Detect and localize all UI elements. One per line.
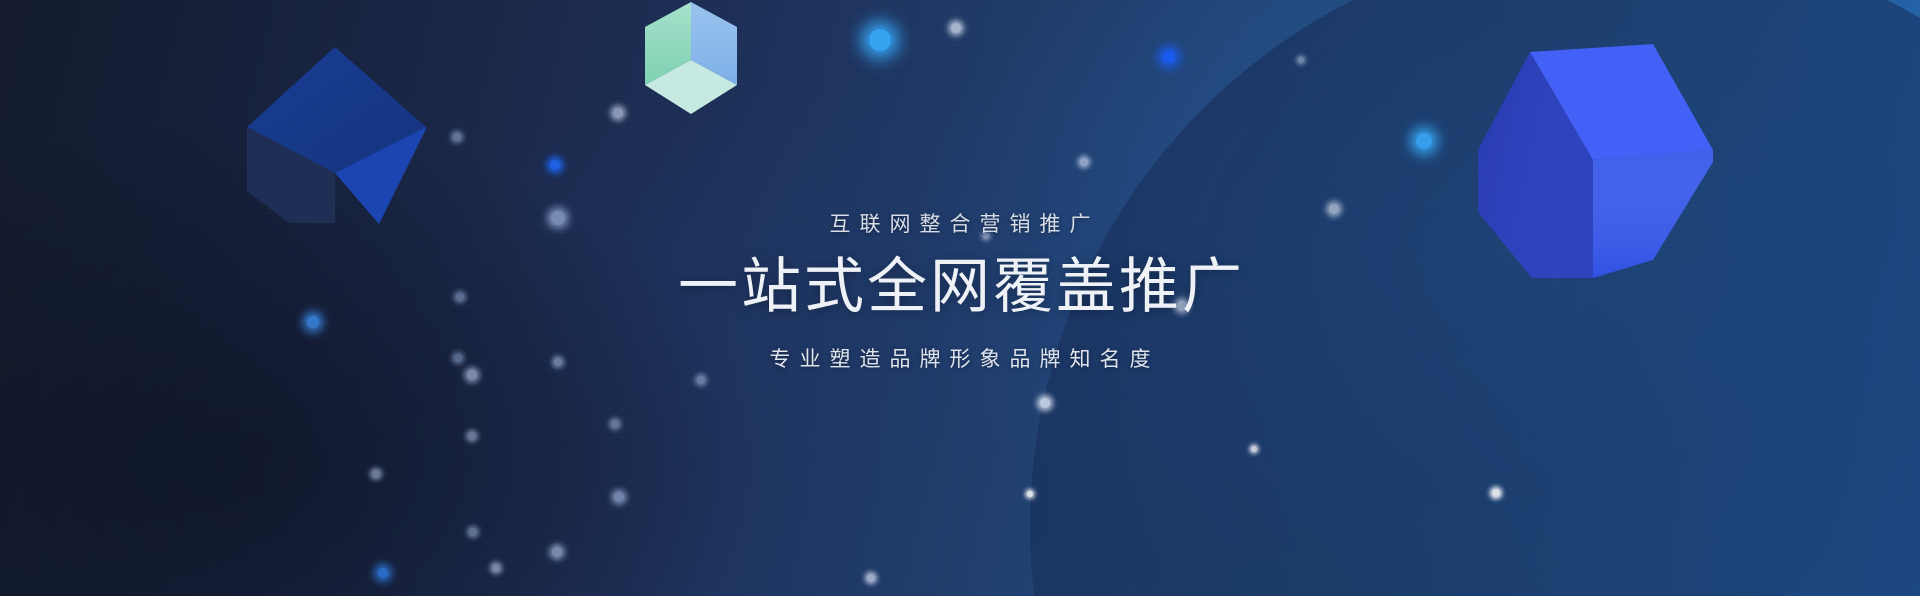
glow-particle [869,29,891,51]
glow-particle [1163,51,1175,63]
glow-particle [611,420,619,428]
mint-cube-icon [643,0,739,116]
glow-particle [378,568,388,578]
banner-headline: 一站式全网覆盖推广 [0,257,1920,317]
glow-particle [867,574,875,582]
glow-particle [492,564,500,572]
banner-tagline: 专业塑造品牌形象品牌知名度 [0,349,1920,370]
glow-particle [697,376,705,384]
banner-text-block: 互联网整合营销推广 一站式全网覆盖推广 专业塑造品牌形象品牌知名度 [0,214,1920,370]
glow-particle [468,432,476,440]
glow-particle [1040,398,1050,408]
glow-particle [1080,158,1088,166]
glow-particle [1492,489,1500,497]
glow-particle [453,133,461,141]
glow-particle [951,23,961,33]
glow-particle [1329,204,1339,214]
glow-particle [469,528,477,536]
glow-particle [1027,491,1033,497]
dark-blue-cube-icon [243,43,426,224]
glow-particle [467,370,477,380]
promo-banner: 互联网整合营销推广 一站式全网覆盖推广 专业塑造品牌形象品牌知名度 [0,0,1920,596]
glow-particle [613,108,623,118]
glow-particle [552,547,562,557]
glow-particle [1416,133,1432,149]
glow-particle [614,492,624,502]
glow-particle [1298,57,1304,63]
glow-particle [1251,446,1257,452]
glow-particle [550,160,560,170]
banner-eyebrow: 互联网整合营销推广 [0,214,1920,235]
glow-particle [372,470,380,478]
